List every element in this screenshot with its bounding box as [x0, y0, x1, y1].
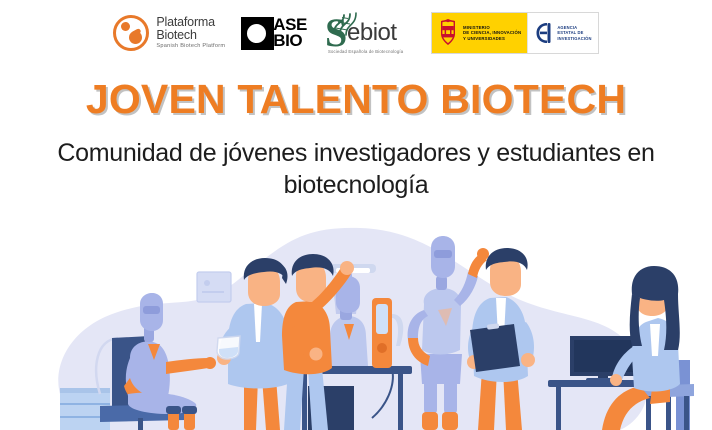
- ministerio-line2: DE CIENCIA, INNOVACIÓN: [463, 30, 521, 35]
- page-title: JOVEN TALENTO BIOTECH: [0, 76, 712, 123]
- plataforma-biotech-tagline: Spanish Biotech Platform: [156, 44, 225, 50]
- sebiot-wordmark: ebiot: [347, 21, 397, 45]
- agencia-estatal-block: AGENCIA ESTATAL DE INVESTIGACIÓN: [527, 13, 597, 53]
- spain-coat-of-arms-icon: [437, 19, 459, 47]
- logo-asebio: ASE BIO: [241, 9, 307, 57]
- ministerio-line3: Y UNIVERSIDADES: [463, 36, 521, 41]
- asebio-text: ASE BIO: [273, 17, 307, 48]
- sponsor-logo-bar: Plataforma Biotech Spanish Biotech Platf…: [0, 0, 712, 66]
- wall-panel: [197, 272, 231, 302]
- logo-plataforma-biotech: Plataforma Biotech Spanish Biotech Platf…: [113, 9, 225, 57]
- asebio-line2: BIO: [273, 33, 307, 49]
- plataforma-biotech-text: Plataforma Biotech Spanish Biotech Platf…: [156, 16, 225, 49]
- poster-canvas: Plataforma Biotech Spanish Biotech Platf…: [0, 0, 712, 430]
- agencia-estatal-text: AGENCIA ESTATAL DE INVESTIGACIÓN: [557, 25, 591, 40]
- page-subtitle: Comunidad de jóvenes investigadores y es…: [56, 137, 656, 201]
- biotech-laboratory-scene-illustration: [0, 218, 712, 430]
- sebiot-tagline: Sociedad Española de Biotecnología: [328, 49, 403, 54]
- logo-gobierno-espana: MINISTERIO DE CIENCIA, INNOVACIÓN Y UNIV…: [431, 12, 599, 54]
- agencia-line3: INVESTIGACIÓN: [557, 36, 591, 41]
- asebio-square-circle-logo-icon: [241, 17, 274, 50]
- ministerio-block: MINISTERIO DE CIENCIA, INNOVACIÓN Y UNIV…: [432, 13, 527, 53]
- plataforma-biotech-circle-logo-icon: [113, 15, 149, 51]
- logo-sebiot: S ebiot Sociedad Española de Biotecnolog…: [325, 9, 409, 57]
- plataforma-biotech-line2: Biotech: [156, 29, 225, 42]
- aei-el-logo-icon: [534, 21, 553, 45]
- ministerio-text: MINISTERIO DE CIENCIA, INNOVACIÓN Y UNIV…: [463, 25, 521, 41]
